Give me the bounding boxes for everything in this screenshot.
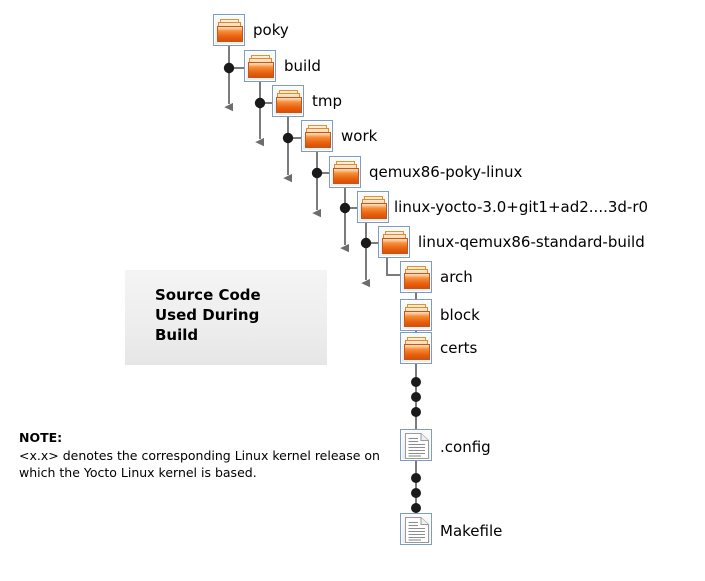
folder-icon bbox=[301, 120, 333, 152]
document-icon bbox=[400, 429, 432, 461]
folder-icon bbox=[244, 50, 276, 82]
tree-label-arch: arch bbox=[440, 270, 473, 285]
tree-label-tmp: tmp bbox=[312, 94, 342, 109]
folder-icon bbox=[378, 226, 410, 258]
callout-text: Source Code Used During Build bbox=[155, 285, 261, 345]
tree-label-makefile: Makefile bbox=[440, 524, 502, 539]
tree-node-work[interactable] bbox=[301, 120, 333, 152]
tree-node-build[interactable] bbox=[244, 50, 276, 82]
tree-node-arch[interactable] bbox=[400, 261, 432, 293]
tree-node-makefile[interactable] bbox=[400, 513, 432, 545]
folder-icon bbox=[400, 332, 432, 364]
note-line-1: <x.x> denotes the corresponding Linux ke… bbox=[19, 447, 389, 464]
tree-label-build: build bbox=[284, 59, 321, 74]
note-line-2: which the Yocto Linux kernel is based. bbox=[19, 464, 389, 481]
tree-node-config[interactable] bbox=[400, 429, 432, 461]
tree-node-qemux86-poky-linux[interactable] bbox=[329, 156, 361, 188]
tree-node-certs[interactable] bbox=[400, 332, 432, 364]
tree-label-work: work bbox=[341, 129, 377, 144]
tree-label-certs: certs bbox=[440, 341, 477, 356]
folder-icon bbox=[400, 299, 432, 331]
callout-line-2: Used During bbox=[155, 305, 261, 325]
tree-label-linux-qemux86-standard-build: linux-qemux86-standard-build bbox=[418, 235, 645, 250]
folder-icon bbox=[400, 261, 432, 293]
tree-label-block: block bbox=[440, 308, 480, 323]
tree-node-linux-yocto[interactable] bbox=[357, 191, 389, 223]
directory-tree-diagram: poky build tmp work qemux86-poky-linux l… bbox=[0, 0, 705, 581]
folder-icon bbox=[357, 191, 389, 223]
folder-icon bbox=[213, 14, 245, 46]
tree-label-config: .config bbox=[440, 440, 491, 455]
note-title: NOTE: bbox=[19, 430, 389, 446]
tree-label-poky: poky bbox=[253, 23, 289, 38]
source-code-callout: Source Code Used During Build bbox=[125, 270, 327, 365]
tree-node-block[interactable] bbox=[400, 299, 432, 331]
tree-node-linux-qemux86-standard-build[interactable] bbox=[378, 226, 410, 258]
tree-label-linux-yocto: linux-yocto-3.0+git1+ad2....3d-r0 bbox=[394, 200, 648, 215]
tree-label-qemux86-poky-linux: qemux86-poky-linux bbox=[369, 165, 522, 180]
note-body: <x.x> denotes the corresponding Linux ke… bbox=[19, 447, 389, 481]
note-block: NOTE: <x.x> denotes the corresponding Li… bbox=[19, 430, 389, 481]
connector-lines bbox=[0, 0, 705, 581]
tree-node-tmp[interactable] bbox=[272, 85, 304, 117]
folder-icon bbox=[272, 85, 304, 117]
tree-node-poky[interactable] bbox=[213, 14, 245, 46]
callout-line-1: Source Code bbox=[155, 285, 261, 305]
folder-icon bbox=[329, 156, 361, 188]
document-icon bbox=[400, 513, 432, 545]
callout-line-3: Build bbox=[155, 325, 261, 345]
